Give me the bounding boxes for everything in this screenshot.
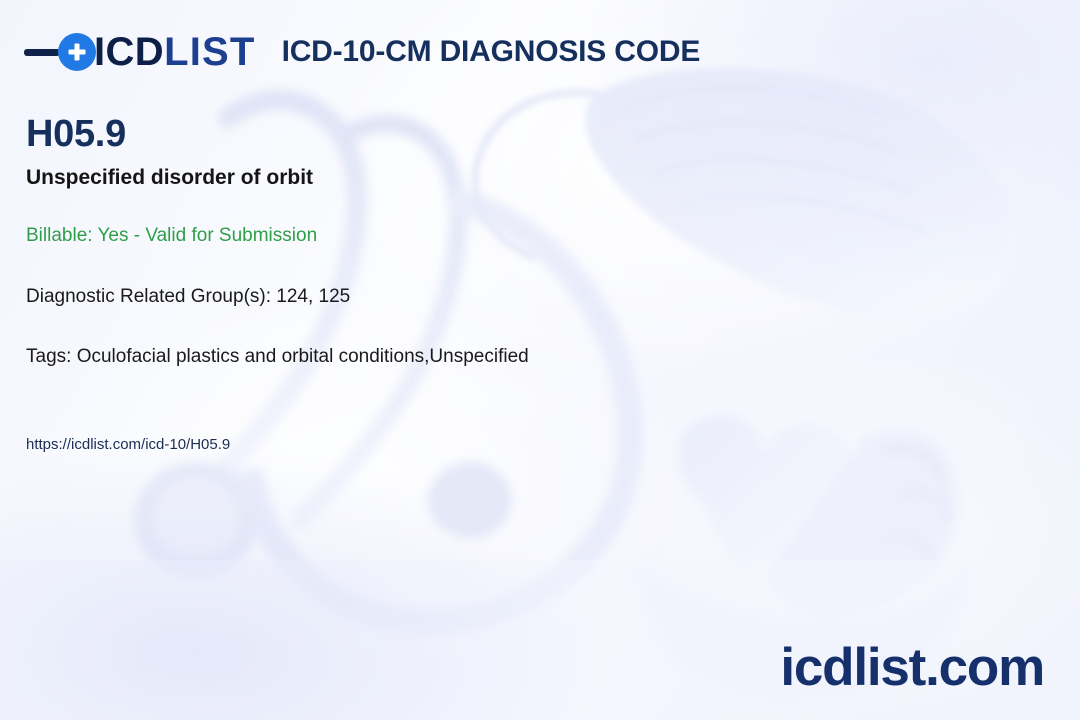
dash-icon — [24, 49, 60, 56]
page-title: ICD-10-CM DIAGNOSIS CODE — [282, 35, 701, 69]
icd-code-card: ICDLIST ICD-10-CM DIAGNOSIS CODE H05.9 U… — [0, 0, 1080, 720]
billable-status: Billable: Yes - Valid for Submission — [26, 224, 1026, 248]
background-tint-bottom-left — [0, 446, 583, 720]
source-url[interactable]: https://icdlist.com/icd-10/H05.9 — [26, 436, 1026, 455]
icdlist-logo[interactable]: ICDLIST — [24, 26, 256, 78]
logo-word-list: LIST — [164, 30, 255, 74]
logo-word-icd: ICD — [94, 30, 164, 74]
header: ICDLIST ICD-10-CM DIAGNOSIS CODE — [24, 26, 700, 78]
code-details: H05.9 Unspecified disorder of orbit Bill… — [26, 112, 1026, 455]
tags-line: Tags: Oculofacial plastics and orbital c… — [26, 345, 1026, 369]
plus-circle-icon — [58, 33, 96, 71]
diagnostic-related-groups: Diagnostic Related Group(s): 124, 125 — [26, 285, 1026, 309]
logo-wordmark: ICDLIST — [94, 32, 256, 72]
footer-brand: icdlist.com — [780, 641, 1044, 694]
icd-code: H05.9 — [26, 112, 1026, 157]
code-description: Unspecified disorder of orbit — [26, 165, 1026, 191]
